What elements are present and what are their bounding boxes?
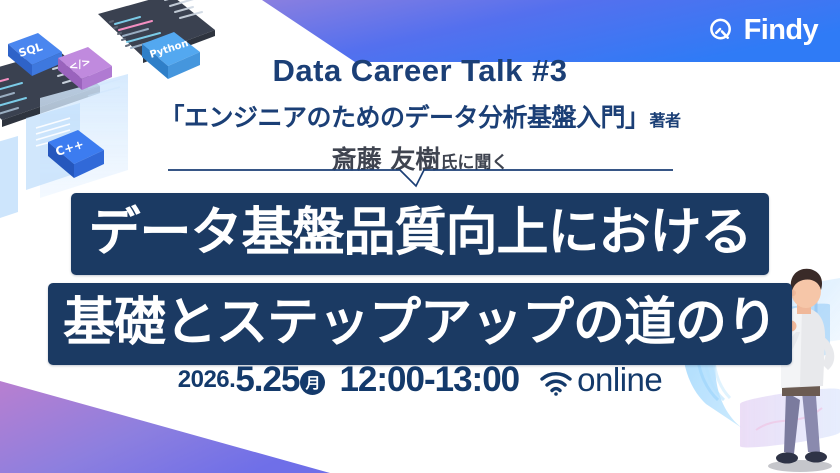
book-title-line: 「エンジニアのためのデータ分析基盤入門」著者 xyxy=(0,98,840,134)
book-author-label: 著者 xyxy=(650,111,681,130)
findy-logo-text: Findy xyxy=(744,16,818,45)
main-title: データ基盤品質向上における 基礎とステップアップの道のり xyxy=(0,193,840,365)
day-of-week-badge: 月 xyxy=(300,370,325,395)
event-banner: SQL </> Python xyxy=(0,0,840,473)
event-venue: online xyxy=(577,361,662,399)
notched-divider-icon xyxy=(168,166,673,188)
event-year: 2026. xyxy=(178,366,236,394)
findy-q-mark-icon xyxy=(708,17,735,44)
wifi-icon xyxy=(539,370,573,396)
findy-logo[interactable]: Findy xyxy=(708,16,818,45)
book-title: 「エンジニアのためのデータ分析基盤入門」 xyxy=(159,103,649,132)
event-time: 12:00-13:00 xyxy=(339,360,519,400)
event-datetime: 2026. 5.25 月 12:00-13:00 online xyxy=(0,360,840,400)
main-title-line-2: 基礎とステップアップの道のり xyxy=(48,283,792,365)
main-title-line-1: データ基盤品質向上における xyxy=(71,193,768,275)
series-title: Data Career Talk #3 xyxy=(0,53,840,89)
event-month-day: 5.25 xyxy=(235,360,299,400)
divider-rule xyxy=(168,166,673,188)
